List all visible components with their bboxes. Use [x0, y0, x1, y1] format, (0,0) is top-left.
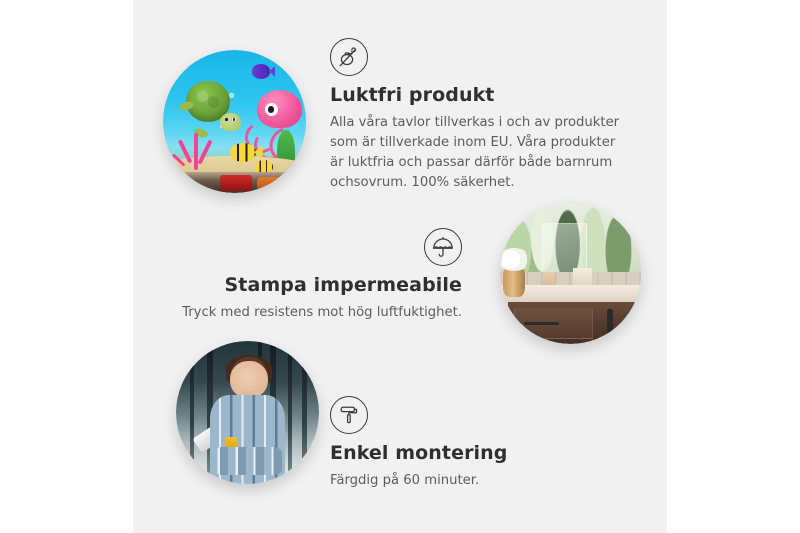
photo-ocean-kids-mural[interactable]	[163, 50, 306, 193]
vanity-cabinet	[508, 302, 641, 344]
paint-roller-icon	[330, 396, 368, 434]
feature-title: Enkel montering	[330, 443, 630, 465]
foreground-furniture-strip	[163, 172, 306, 193]
feature-body: Tryck med resistens mot hög luftfuktighe…	[180, 303, 462, 323]
feature-waterproof-print: Stampa impermeabile Tryck med resistens …	[180, 228, 462, 323]
feature-easy-mounting: Enkel montering Färgdig på 60 minuter.	[330, 396, 630, 491]
photo-bathroom-botanical-wallpaper[interactable]	[500, 203, 641, 344]
woman-crossed-arms	[210, 447, 284, 476]
feature-body: Färgdig på 60 minuter.	[330, 471, 630, 491]
photo-woman-with-paint-roller[interactable]	[176, 341, 319, 484]
blue-fish-icon	[252, 64, 271, 78]
product-feature-panel: Luktfri produkt Alla våra tavlor tillver…	[0, 0, 800, 533]
feature-title: Stampa impermeabile	[180, 275, 462, 297]
no-odour-spray-bottle-icon	[330, 38, 368, 76]
feature-body: Alla våra tavlor tillverkas i och av pro…	[330, 113, 630, 193]
feature-title: Luktfri produkt	[330, 85, 630, 107]
white-flowers	[500, 248, 531, 271]
feature-odour-free: Luktfri produkt Alla våra tavlor tillver…	[330, 38, 630, 193]
coral-illustration	[177, 133, 214, 170]
yellow-fish-icon	[230, 143, 256, 162]
octopus-illustration	[246, 90, 303, 156]
umbrella-icon	[424, 228, 462, 266]
turtle-illustration	[182, 81, 239, 132]
